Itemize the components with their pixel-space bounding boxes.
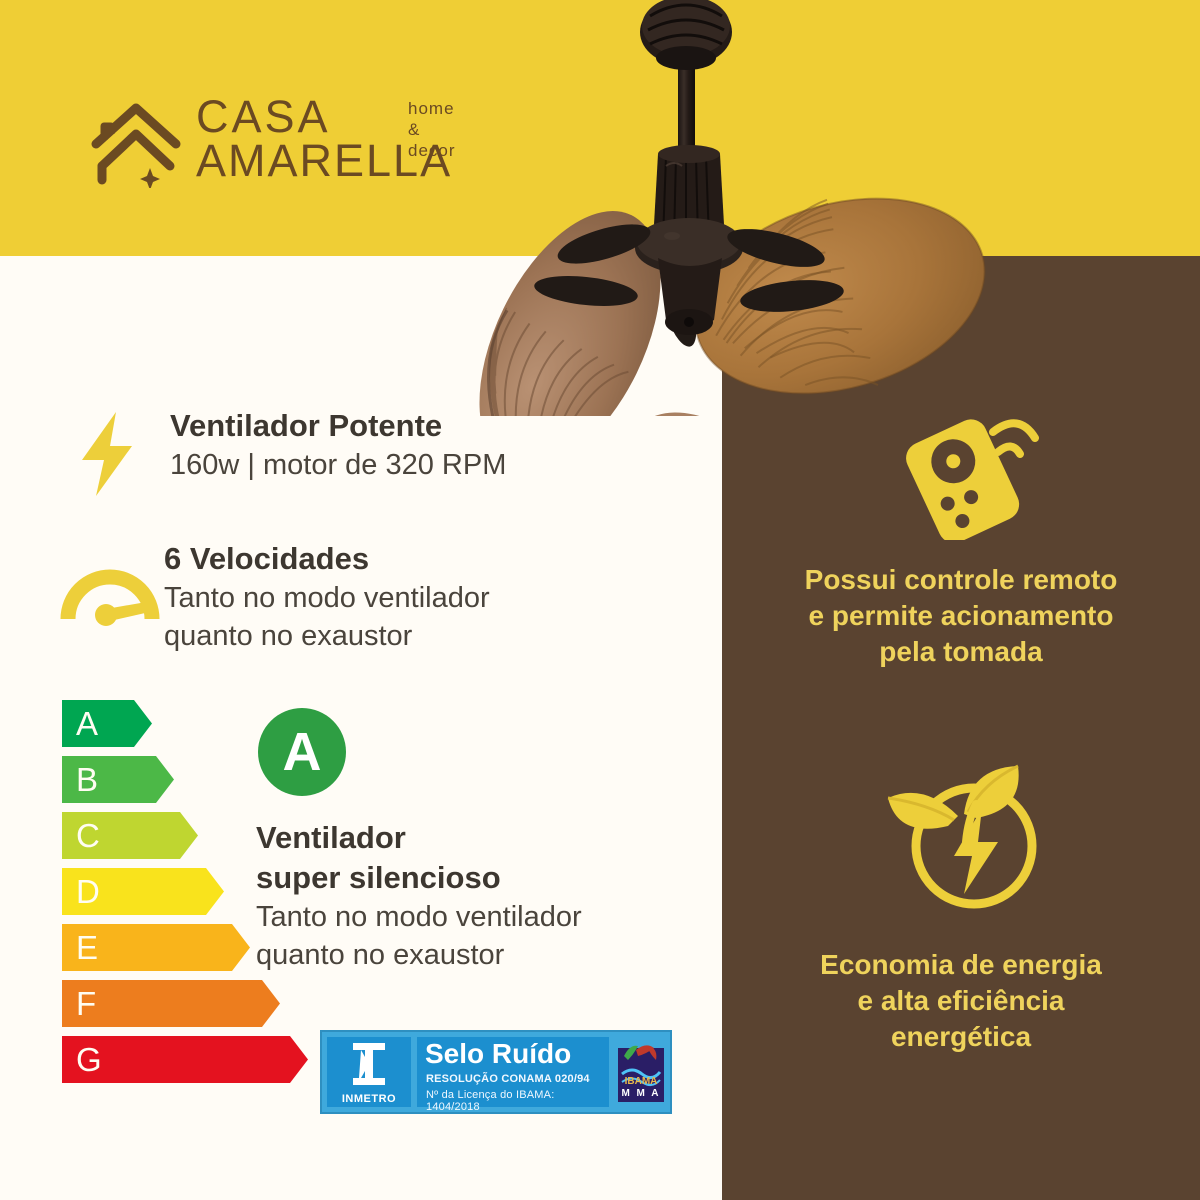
energy-bar-G: G xyxy=(62,1036,312,1083)
silent-subtitle-line1: Tanto no modo ventilador xyxy=(256,898,676,936)
inmetro-label: INMETRO xyxy=(327,1093,411,1105)
feature-title: Ventilador Potente xyxy=(170,406,506,446)
caption-line1: Economia de energia xyxy=(722,947,1200,983)
feature-text-block: Ventilador Potente 160w | motor de 320 R… xyxy=(170,406,506,484)
energy-bar-F: F xyxy=(62,980,312,1027)
ibama-label: IBAMA xyxy=(614,1076,668,1087)
feature-text-block: 6 Velocidades Tanto no modo ventilador q… xyxy=(164,539,490,655)
caption-line2: e alta eficiência xyxy=(722,983,1200,1019)
feature-subtitle-line1: Tanto no modo ventilador xyxy=(164,579,490,617)
inmetro-logo-icon xyxy=(327,1037,411,1091)
energy-bar-letter: C xyxy=(76,812,100,859)
silent-fan-text-block: Ventilador super silencioso Tanto no mod… xyxy=(256,818,676,974)
energy-bar-letter: F xyxy=(76,980,96,1027)
seal-text-block: Selo Ruído RESOLUÇÃO CONAMA 020/94 Nº da… xyxy=(417,1037,609,1107)
silent-title-line2: super silencioso xyxy=(256,858,676,898)
lightning-bolt-icon xyxy=(66,410,152,503)
selo-ruido-seal: INMETRO Selo Ruído RESOLUÇÃO CONAMA 020/… xyxy=(320,1030,672,1114)
ibama-sublabel: M M A xyxy=(614,1088,668,1099)
caption-line3: pela tomada xyxy=(722,634,1200,670)
ceiling-fan-image xyxy=(180,0,1080,416)
caption-line1: Possui controle remoto xyxy=(722,562,1200,598)
energy-bar-letter: A xyxy=(76,700,98,747)
silent-subtitle-line2: quanto no exaustor xyxy=(256,936,676,974)
energy-bar-letter: B xyxy=(76,756,98,803)
energy-saving-caption: Economia de energia e alta eficiência en… xyxy=(722,947,1200,1055)
speedometer-icon xyxy=(60,545,160,640)
inmetro-block: INMETRO xyxy=(327,1037,411,1107)
infographic-page: CASA home & decor AMARELLA xyxy=(0,0,1200,1200)
energy-rating-badge: A xyxy=(258,708,346,796)
caption-line2: e permite acionamento xyxy=(722,598,1200,634)
remote-control-caption: Possui controle remoto e permite acionam… xyxy=(722,562,1200,670)
seal-resolution-line: RESOLUÇÃO CONAMA 020/94 xyxy=(426,1073,590,1085)
energy-bar-letter: D xyxy=(76,868,100,915)
ibama-block: IBAMA M M A xyxy=(614,1040,668,1104)
caption-line3: energética xyxy=(722,1019,1200,1055)
eco-energy-leaf-icon xyxy=(878,742,1058,927)
remote-control-icon xyxy=(898,400,1048,545)
feature-subtitle-line2: quanto no exaustor xyxy=(164,617,490,655)
feature-title: 6 Velocidades xyxy=(164,539,490,579)
feature-subtitle: 160w | motor de 320 RPM xyxy=(170,446,506,484)
energy-bar-letter: E xyxy=(76,924,98,971)
seal-license-line: Nº da Licença do IBAMA: 1404/2018 xyxy=(426,1089,609,1113)
silent-title-line1: Ventilador xyxy=(256,818,676,858)
house-roof-icon xyxy=(88,96,188,188)
energy-bar-letter: G xyxy=(76,1036,102,1083)
seal-title: Selo Ruído xyxy=(425,1038,571,1070)
